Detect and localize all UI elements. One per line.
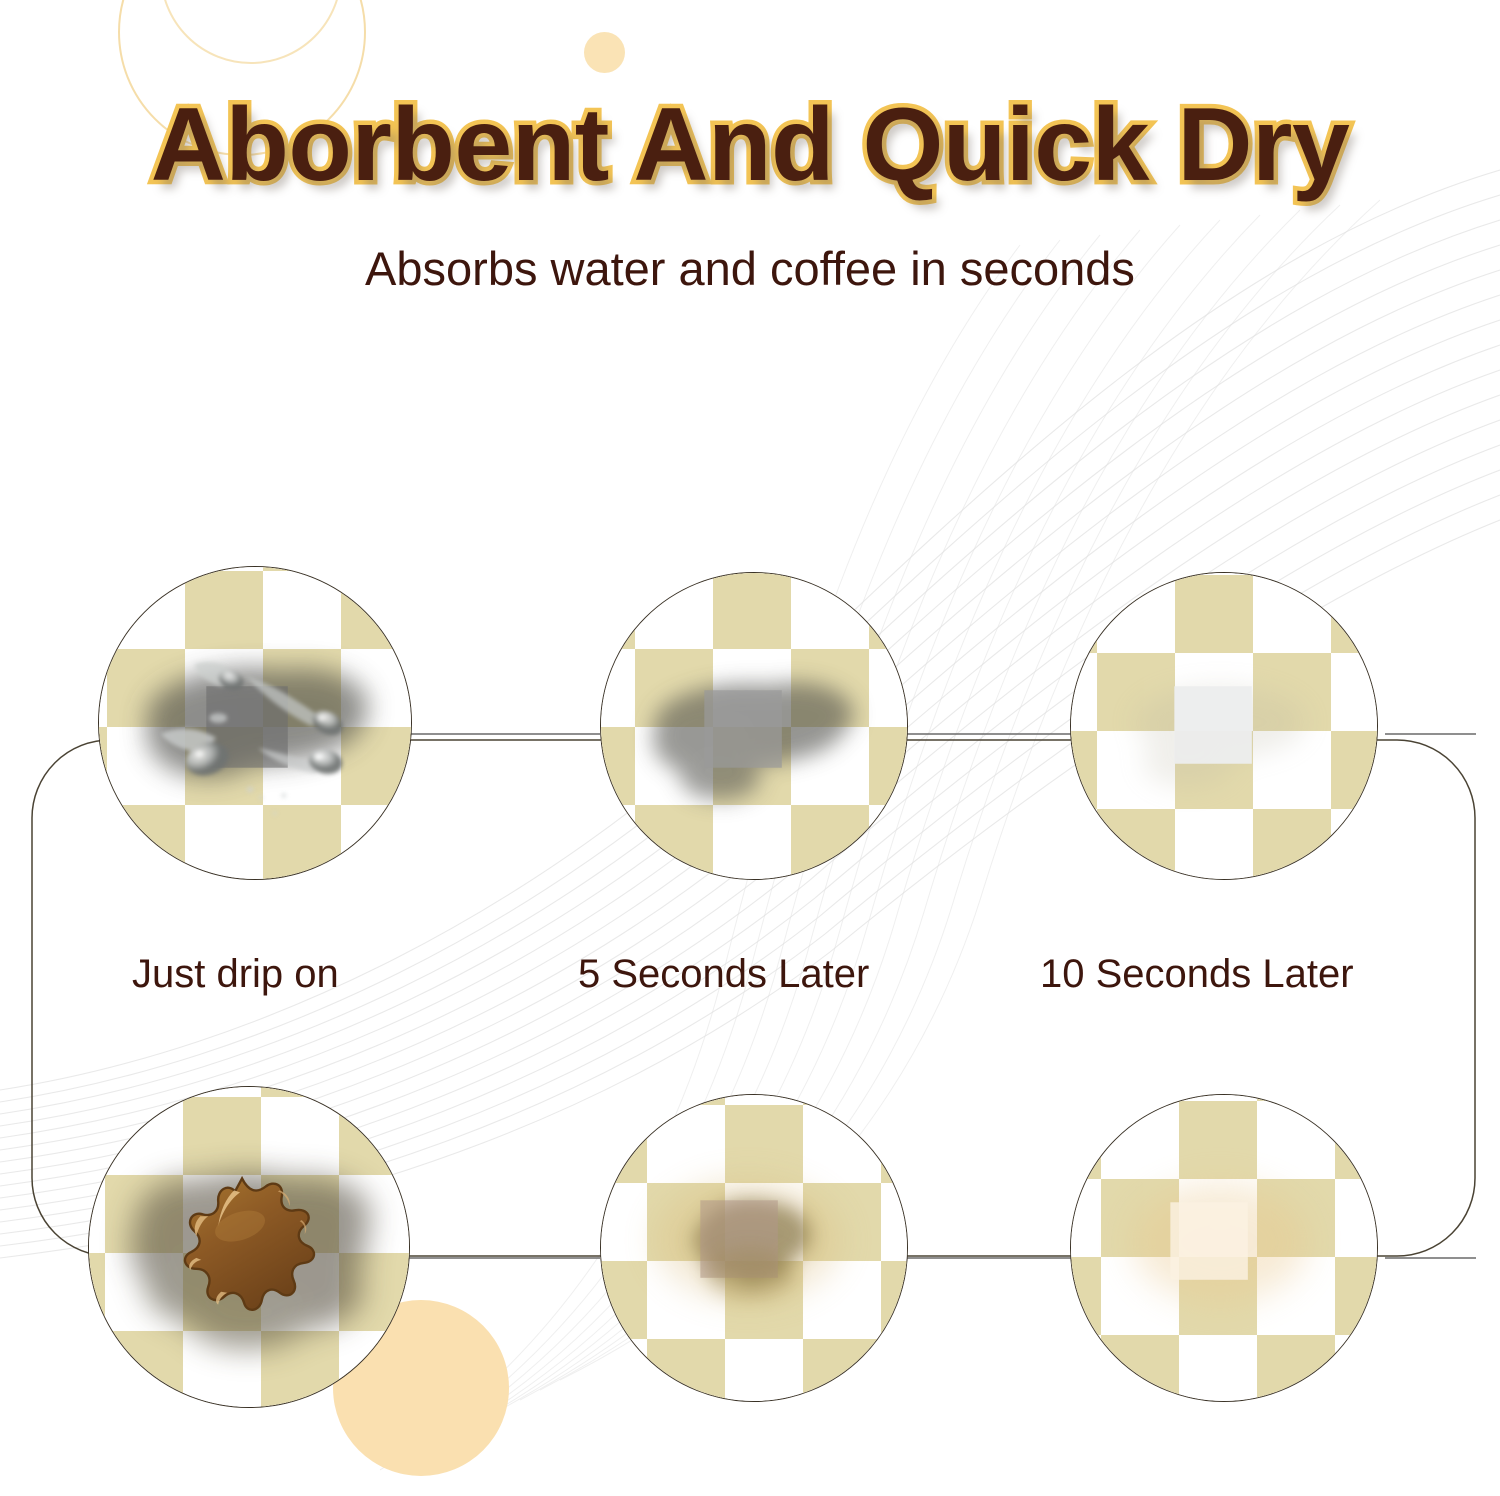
water-stain-fresh <box>99 567 411 879</box>
sample-circle <box>88 1086 410 1408</box>
coffee-stain-partial <box>601 1095 907 1401</box>
coffee-splat-fresh <box>89 1087 409 1407</box>
sample-circle <box>1070 1094 1378 1402</box>
sample-circle <box>1070 572 1378 880</box>
water-stain-partial <box>601 573 907 879</box>
infographic-root: Aborbent And Quick Dry Absorbs water and… <box>0 0 1500 1496</box>
sample-circle <box>98 566 412 880</box>
caption-5-seconds-later: 5 Seconds Later <box>578 952 869 997</box>
sample-circle <box>600 1094 908 1402</box>
coffee-stain-dry <box>1071 1095 1377 1401</box>
caption-10-seconds-later: 10 Seconds Later <box>1040 952 1354 997</box>
caption-just-drip-on: Just drip on <box>132 952 339 997</box>
water-stain-dry <box>1071 573 1377 879</box>
sample-circle <box>600 572 908 880</box>
